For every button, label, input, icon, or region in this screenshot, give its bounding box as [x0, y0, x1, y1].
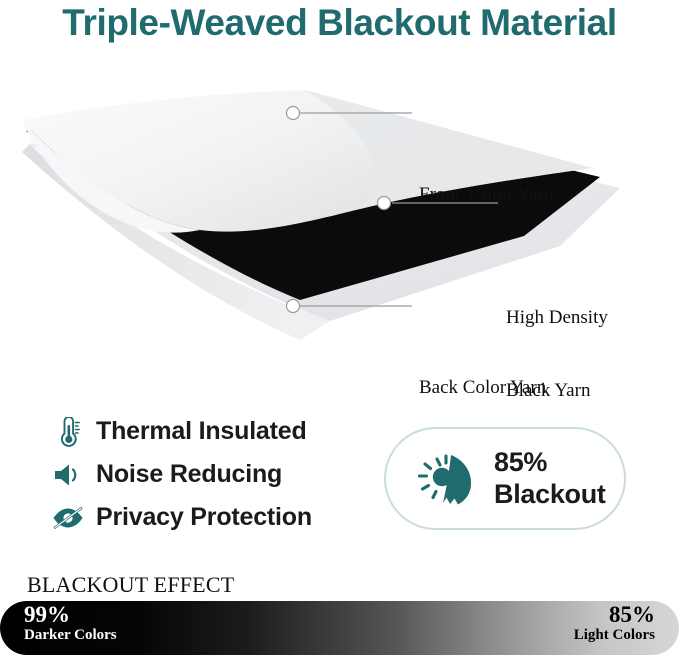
sun-behind-curtain-icon — [386, 446, 494, 512]
eye-off-icon — [46, 506, 90, 530]
blackout-label: Blackout — [494, 479, 606, 510]
feature-item-thermal-insulated: Thermal Insulated — [46, 410, 366, 453]
feature-label-thermal-insulated: Thermal Insulated — [90, 417, 307, 446]
fabric-layers-diagram: Front Color Yarn High Density Black Yarn… — [0, 78, 679, 350]
blackout-effect-right-readout: 85% Light Colors — [574, 603, 655, 644]
darker-colors-label: Darker Colors — [24, 627, 117, 644]
blackout-effect-heading: BLACKOUT EFFECT — [27, 572, 234, 598]
blackout-percent: 85% — [494, 447, 606, 478]
light-colors-percent: 85% — [574, 603, 655, 627]
label-high-density-black-yarn: High Density Black Yarn — [506, 257, 608, 452]
feature-label-privacy-protection: Privacy Protection — [90, 503, 312, 532]
feature-item-privacy-protection: Privacy Protection — [46, 496, 366, 539]
label-line-1: High Density — [506, 306, 608, 330]
page-title: Triple-Weaved Blackout Material — [0, 2, 679, 44]
blackout-badge: 85% Blackout — [384, 427, 626, 530]
speaker-icon — [46, 462, 90, 488]
feature-label-noise-reducing: Noise Reducing — [90, 460, 282, 489]
blackout-effect-left-readout: 99% Darker Colors — [24, 603, 117, 644]
thermometer-icon — [46, 417, 90, 447]
feature-list: Thermal Insulated Noise Reducing Privacy… — [46, 410, 366, 539]
label-front-color-yarn: Front Color Yarn — [419, 183, 553, 207]
light-colors-label: Light Colors — [574, 627, 655, 644]
label-back-color-yarn: Back Color Yarn — [419, 376, 546, 400]
darker-colors-percent: 99% — [24, 603, 117, 627]
feature-item-noise-reducing: Noise Reducing — [46, 453, 366, 496]
blackout-badge-text: 85% Blackout — [494, 447, 606, 509]
